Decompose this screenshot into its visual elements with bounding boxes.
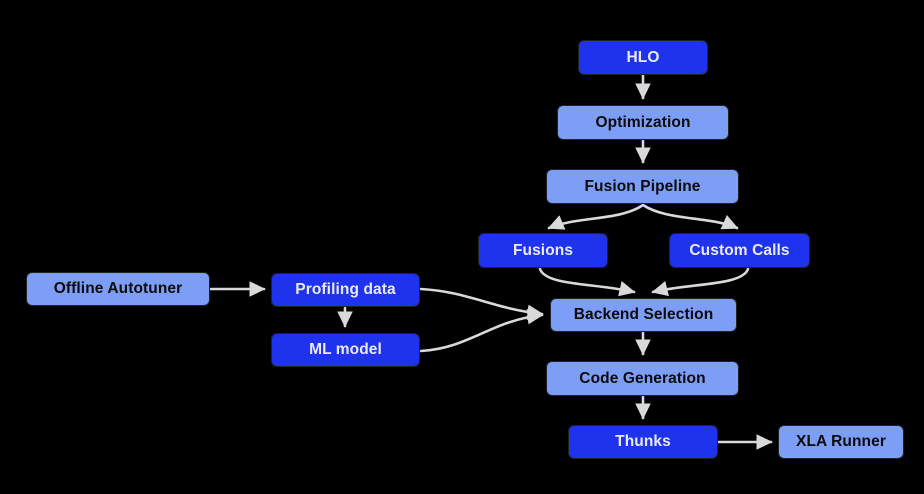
node-label-profiling_data: Profiling data bbox=[295, 282, 395, 298]
node-fusions[interactable]: Fusions bbox=[478, 233, 608, 268]
edge-profiling_data-backend_selection bbox=[421, 289, 542, 314]
edge-fusions-backend_selection bbox=[540, 269, 634, 292]
node-thunks[interactable]: Thunks bbox=[568, 425, 718, 459]
edge-custom_calls-backend_selection bbox=[653, 269, 748, 292]
edge-fusion_pipeline-fusions bbox=[549, 205, 643, 228]
node-label-xla_runner: XLA Runner bbox=[796, 434, 886, 450]
node-label-hlo: HLO bbox=[626, 50, 659, 66]
node-label-fusions: Fusions bbox=[513, 243, 573, 259]
node-label-thunks: Thunks bbox=[615, 434, 671, 450]
node-label-custom_calls: Custom Calls bbox=[689, 243, 789, 259]
node-xla_runner[interactable]: XLA Runner bbox=[778, 425, 904, 459]
node-label-fusion_pipeline: Fusion Pipeline bbox=[584, 179, 700, 195]
edge-fusion_pipeline-custom_calls bbox=[643, 205, 737, 228]
node-backend_selection[interactable]: Backend Selection bbox=[550, 298, 737, 332]
node-optimization[interactable]: Optimization bbox=[557, 105, 729, 140]
node-hlo[interactable]: HLO bbox=[578, 40, 708, 75]
node-ml_model[interactable]: ML model bbox=[271, 333, 420, 367]
node-custom_calls[interactable]: Custom Calls bbox=[669, 233, 810, 268]
flowchart-canvas: HLOOptimizationFusion PipelineFusionsCus… bbox=[0, 0, 924, 494]
node-label-code_generation: Code Generation bbox=[579, 371, 705, 387]
node-label-offline_autotuner: Offline Autotuner bbox=[54, 281, 183, 297]
node-profiling_data[interactable]: Profiling data bbox=[271, 273, 420, 307]
node-code_generation[interactable]: Code Generation bbox=[546, 361, 739, 396]
node-fusion_pipeline[interactable]: Fusion Pipeline bbox=[546, 169, 739, 204]
node-offline_autotuner[interactable]: Offline Autotuner bbox=[26, 272, 210, 306]
edge-ml_model-backend_selection bbox=[421, 315, 542, 351]
node-label-optimization: Optimization bbox=[595, 115, 690, 131]
node-label-ml_model: ML model bbox=[309, 342, 382, 358]
node-label-backend_selection: Backend Selection bbox=[574, 307, 714, 323]
